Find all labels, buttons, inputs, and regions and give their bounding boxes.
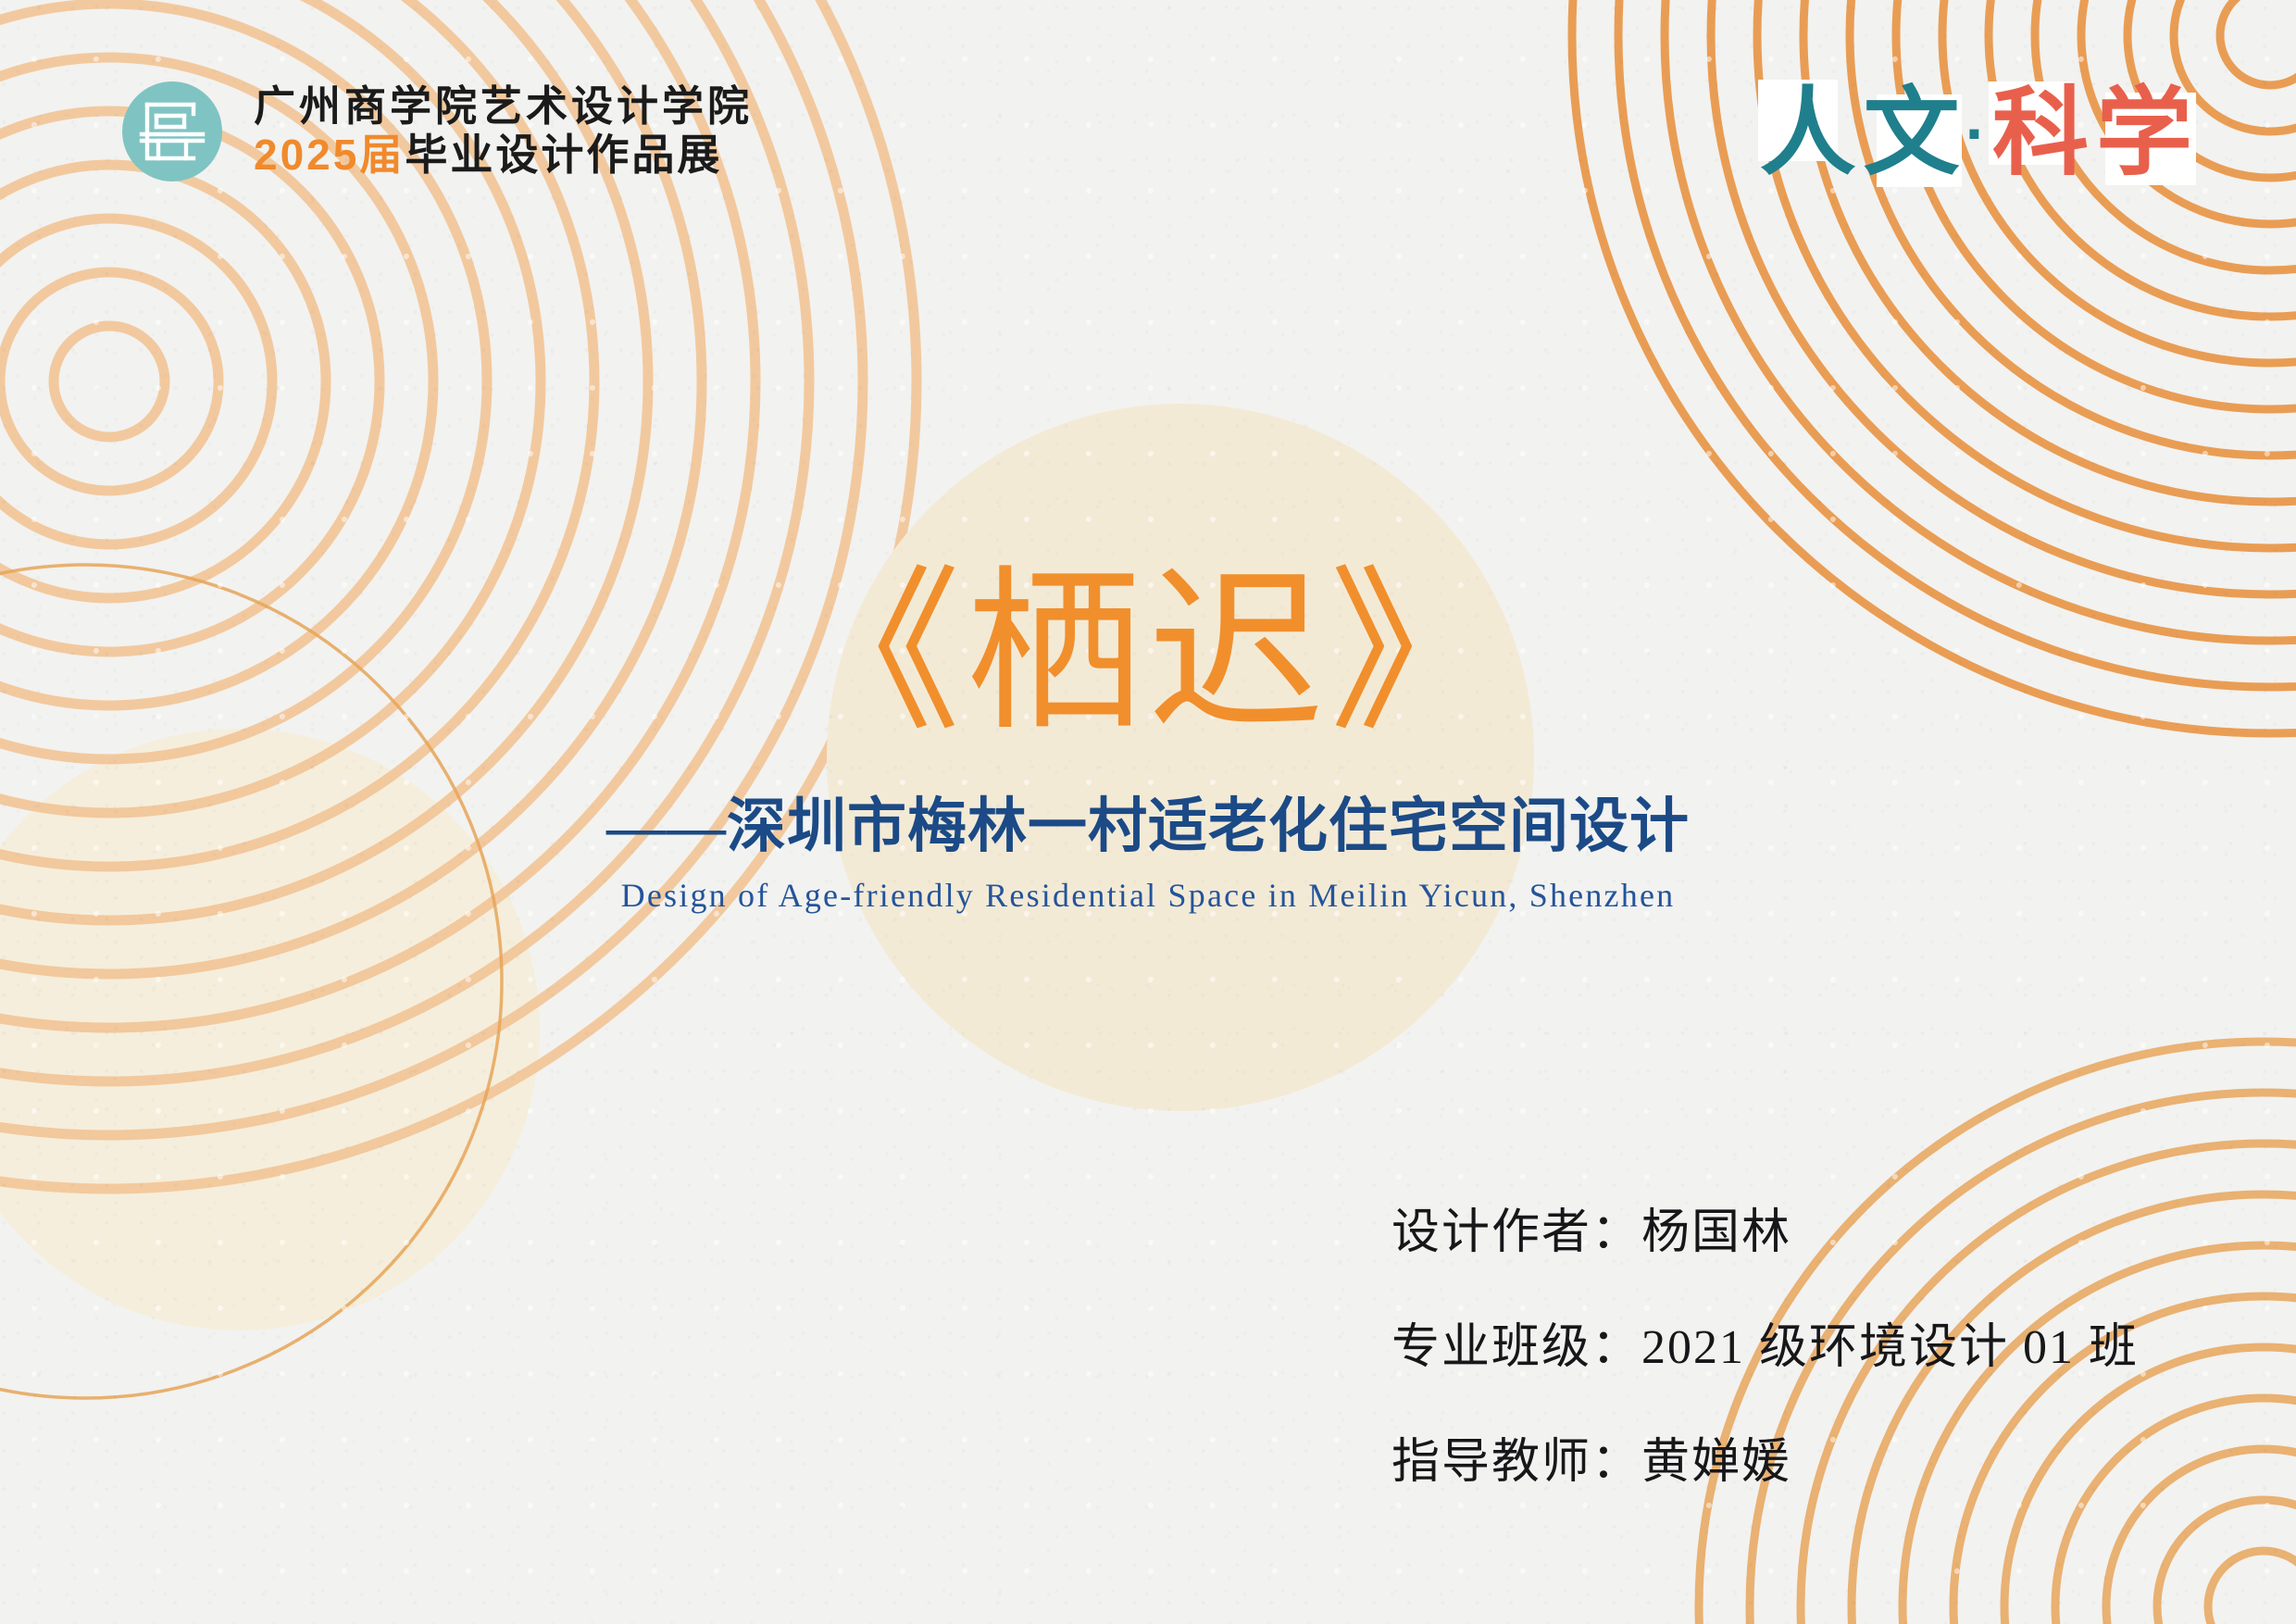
school-logo-circle [122,81,222,181]
project-subtitle-chinese: ——深圳市梅林一村适老化住宅空间设计 [0,793,2296,861]
wordmark-char-ren: 人 [1756,85,1860,181]
credits-block: 设计作者：杨国林 专业班级：2021 级环境设计 01 班 指导教师：黄婵媛 [1391,1209,2139,1487]
humanities-science-wordmark: 人 文 · 科 学 [1756,85,2196,181]
exhibition-line: 2025届毕业设计作品展 [254,131,753,180]
exhibition-year: 2025届 [254,131,405,179]
project-title: 《栖迟》 [0,567,2296,743]
project-subtitle-english: Design of Age-friendly Residential Space… [0,876,2296,916]
wordmark-char-xue: 学 [2092,85,2196,181]
credit-advisor: 指导教师：黄婵媛 [1391,1439,2139,1487]
wordmark-char-wen: 文 [1860,85,1964,181]
poster-canvas: 广州商学院艺术设计学院 2025届毕业设计作品展 人 文 · 科 学 《栖迟》 … [0,0,2296,1624]
exhibition-label: 毕业设计作品展 [405,131,722,179]
header-branding: 广州商学院艺术设计学院 2025届毕业设计作品展 [122,81,753,181]
jie-character-logo-icon [138,97,206,166]
wordmark-separator-dot: · [1964,96,1989,170]
wordmark-char-ke: 科 [1989,85,2092,181]
credit-class: 专业班级：2021 级环境设计 01 班 [1391,1324,2139,1372]
credit-author: 设计作者：杨国林 [1391,1209,2139,1257]
title-block: 《栖迟》 ——深圳市梅林一村适老化住宅空间设计 Design of Age-fr… [0,567,2296,916]
header-text-block: 广州商学院艺术设计学院 2025届毕业设计作品展 [254,83,753,180]
school-name-line: 广州商学院艺术设计学院 [254,83,753,130]
